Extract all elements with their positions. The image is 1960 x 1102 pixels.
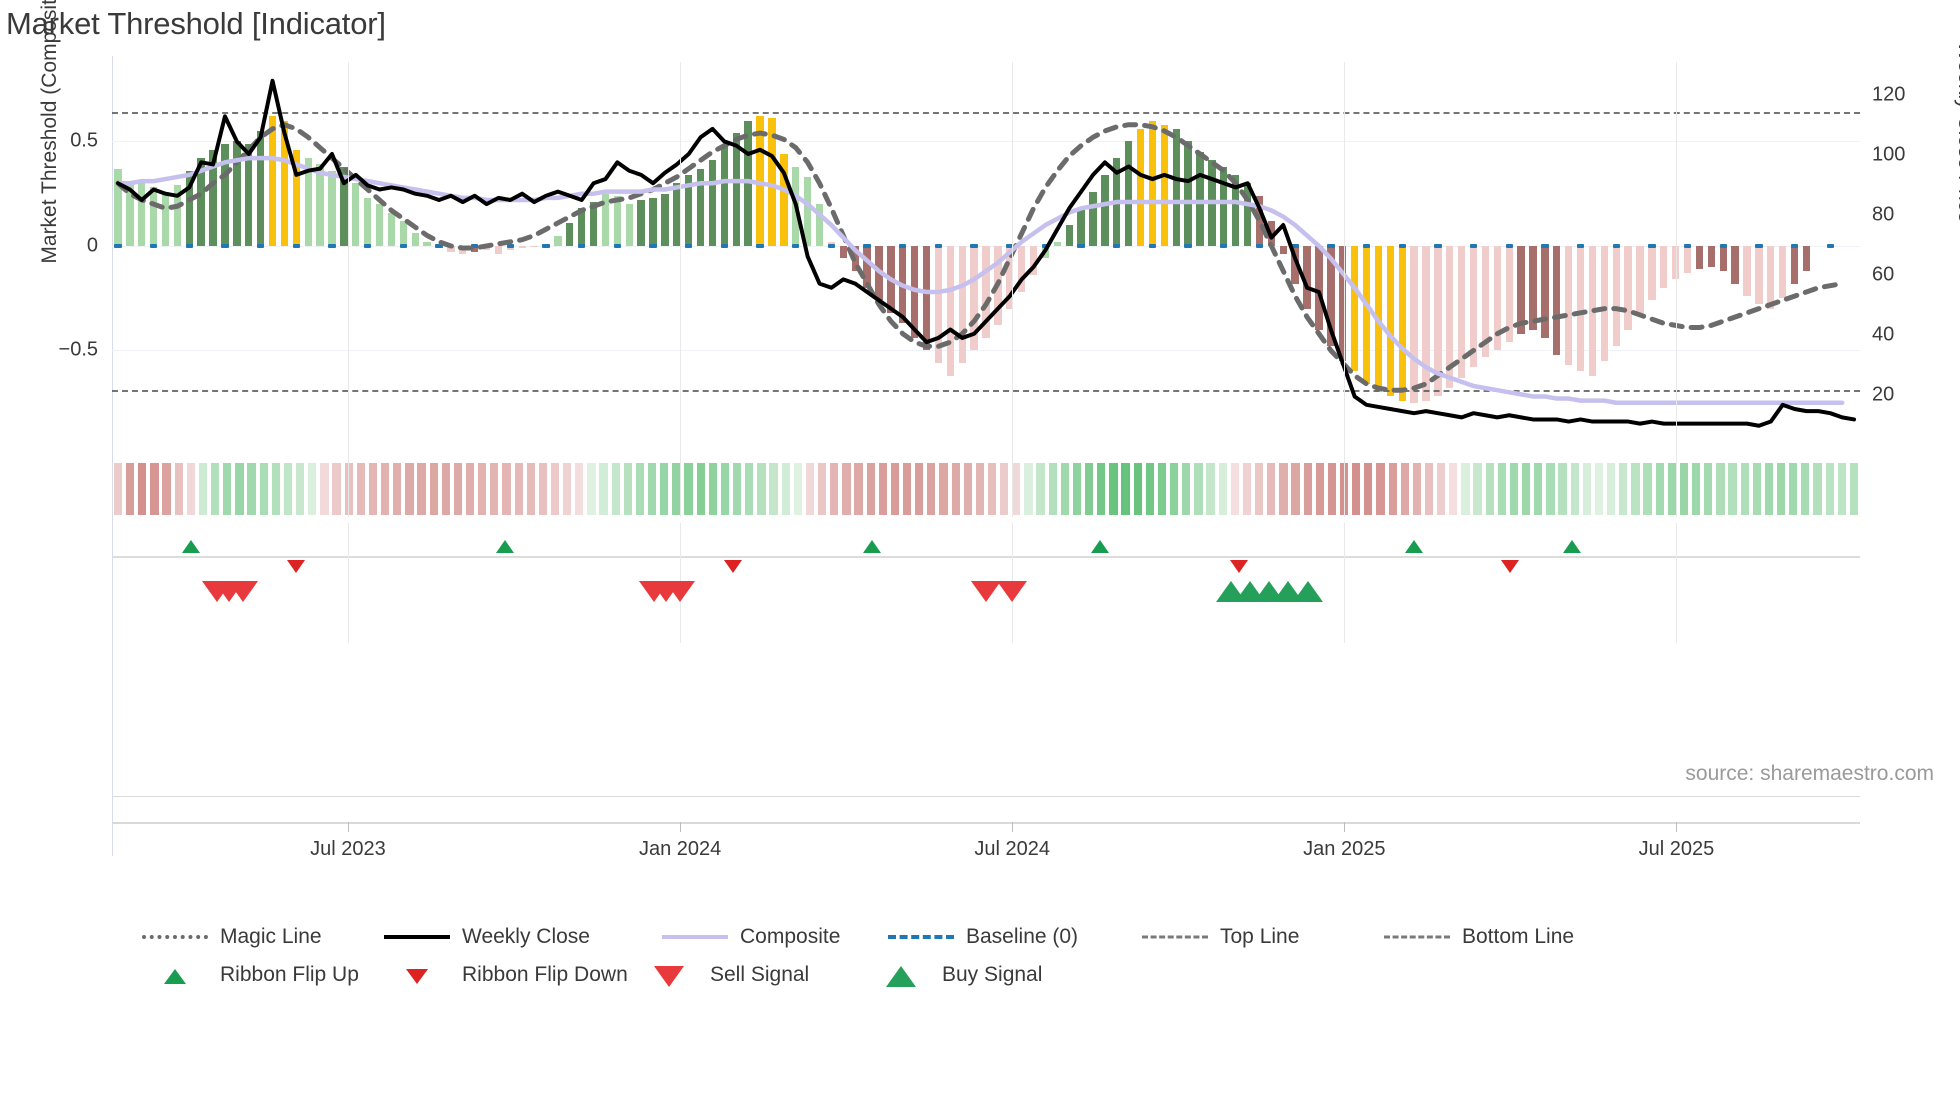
line-key (142, 927, 208, 947)
legend-row-signals: Ribbon Flip UpRibbon Flip DownSell Signa… (112, 956, 1902, 994)
ribbon-cell (1838, 463, 1846, 515)
legend-item[interactable]: Ribbon Flip Down (384, 956, 628, 994)
ribbon-cell (1036, 463, 1044, 515)
x-gridline (1676, 62, 1677, 517)
ribbon-cell (199, 463, 207, 515)
line-key (1384, 927, 1450, 947)
ribbon-cell (478, 463, 486, 515)
ribbon-cell (369, 463, 377, 515)
ribbon-cell (879, 463, 887, 515)
ribbon-cell (1304, 463, 1312, 515)
ribbon-cell (515, 463, 523, 515)
ribbon-cell (830, 463, 838, 515)
ribbon-cell (1510, 463, 1518, 515)
up-triangle-icon (142, 965, 208, 985)
y-tick-left: 0 (87, 234, 98, 257)
ribbon-cell (915, 463, 923, 515)
ribbon-cell (1158, 463, 1166, 515)
signal-gridline (1344, 523, 1345, 643)
ribbon-cell (126, 463, 134, 515)
ribbon-cell (952, 463, 960, 515)
page-title: Market Threshold [Indicator] (6, 6, 386, 42)
ribbon-cell (854, 463, 862, 515)
main-plot-area (112, 62, 1860, 455)
legend-item[interactable]: Magic Line (142, 918, 322, 956)
ribbon-cell (235, 463, 243, 515)
x-gridline (348, 62, 349, 517)
ribbon-cell (272, 463, 280, 515)
ribbon-cell (1279, 463, 1287, 515)
signal-gridline (1676, 523, 1677, 643)
y-tick-left: −0.5 (59, 339, 98, 362)
legend-item[interactable]: Top Line (1142, 918, 1299, 956)
legend-item-label: Top Line (1220, 925, 1299, 949)
ribbon-flip-up-marker (1405, 540, 1423, 553)
ribbon-cell (757, 463, 765, 515)
ribbon-cell (114, 463, 122, 515)
ribbon-cell (138, 463, 146, 515)
buy-signal-marker (1293, 581, 1323, 602)
x-tick-label: Jul 2025 (1639, 838, 1715, 861)
signal-axis-rule (112, 556, 1860, 558)
ribbon-cell (648, 463, 656, 515)
y-axis-right-ticks: 12010080604020 (1860, 62, 1950, 455)
sell-signal-marker (665, 581, 695, 602)
legend-item-label: Weekly Close (462, 925, 590, 949)
signal-gridline (348, 523, 349, 643)
ribbon-cell (1692, 463, 1700, 515)
ribbon-cell (332, 463, 340, 515)
ribbon-cell (1522, 463, 1530, 515)
ribbon-cell (903, 463, 911, 515)
line-swatch-icon (1142, 936, 1208, 939)
up-triangle-icon (864, 965, 930, 985)
down-triangle-glyph (406, 969, 428, 984)
ribbon-cell (430, 463, 438, 515)
line-swatch-icon (384, 935, 450, 939)
chart-root: Market Threshold [Indicator] Market Thre… (0, 0, 1960, 1102)
ribbon-cell (1607, 463, 1615, 515)
ribbon-cell (1486, 463, 1494, 515)
ribbon-cell (1109, 463, 1117, 515)
ribbon-cell (1267, 463, 1275, 515)
ribbon-cell (1583, 463, 1591, 515)
x-gridline (680, 62, 681, 517)
ribbon-cell (1000, 463, 1008, 515)
ribbon-cell (988, 463, 996, 515)
legend-item[interactable]: Baseline (0) (888, 918, 1078, 956)
ribbon-flip-down-marker (724, 560, 742, 573)
x-axis-rule (112, 822, 1860, 824)
legend: Magic LineWeekly CloseCompositeBaseline … (112, 918, 1902, 994)
x-tick-label: Jul 2024 (974, 838, 1050, 861)
legend-item[interactable]: Composite (662, 918, 840, 956)
ribbon-cell (976, 463, 984, 515)
line-swatch-icon (662, 935, 728, 939)
y-tick-left: 0.5 (70, 130, 98, 153)
ribbon-cell (284, 463, 292, 515)
ribbon-cell (927, 463, 935, 515)
bottom-rule (112, 796, 1860, 797)
ribbon-cell (1498, 463, 1506, 515)
x-tick-mark (1344, 822, 1345, 832)
ribbon-cell (1619, 463, 1627, 515)
ribbon-cell (782, 463, 790, 515)
ribbon-cell (1376, 463, 1384, 515)
ribbon-cell (1231, 463, 1239, 515)
ribbon-cell (1595, 463, 1603, 515)
line-key (1142, 927, 1208, 947)
ribbon-cell (1643, 463, 1651, 515)
ribbon-cell (1449, 463, 1457, 515)
magic-line (118, 125, 1842, 390)
ribbon-cell (1291, 463, 1299, 515)
ribbon-cell (454, 463, 462, 515)
ribbon-cell (320, 463, 328, 515)
ribbon-cell (624, 463, 632, 515)
legend-item-label: Buy Signal (942, 963, 1042, 987)
ribbon-cell (636, 463, 644, 515)
ribbon-flip-down-marker (1501, 560, 1519, 573)
legend-item-label: Sell Signal (710, 963, 809, 987)
ribbon-cell (162, 463, 170, 515)
ribbon-cell (1716, 463, 1724, 515)
ribbon-cell (1741, 463, 1749, 515)
ribbon-cell (187, 463, 195, 515)
ribbon-cell (1146, 463, 1154, 515)
y-tick-right: 60 (1872, 264, 1894, 287)
legend-item[interactable]: Ribbon Flip Up (142, 956, 359, 994)
ribbon-cell (1850, 463, 1858, 515)
ribbon-cell (393, 463, 401, 515)
ribbon-cell (1753, 463, 1761, 515)
ribbon-cell (1789, 463, 1797, 515)
ribbon-cell (223, 463, 231, 515)
ribbon-cell (442, 463, 450, 515)
x-tick-label: Jan 2024 (639, 838, 721, 861)
ribbon-cell (1121, 463, 1129, 515)
ribbon-cell (1631, 463, 1639, 515)
ribbon-cell (721, 463, 729, 515)
ribbon-cell (1243, 463, 1251, 515)
ribbon-cell (1170, 463, 1178, 515)
ribbon-cell (417, 463, 425, 515)
ribbon-cell (1668, 463, 1676, 515)
ribbon-cell (1255, 463, 1263, 515)
down-triangle-icon (384, 965, 450, 985)
down-triangle-icon (632, 965, 698, 985)
x-tick-mark (680, 822, 681, 832)
ribbon-cell (1437, 463, 1445, 515)
ribbon-cell (709, 463, 717, 515)
ribbon-cell (1704, 463, 1712, 515)
ribbon-cell (697, 463, 705, 515)
legend-item-label: Baseline (0) (966, 925, 1078, 949)
ribbon-cell (1316, 463, 1324, 515)
ribbon-cell (247, 463, 255, 515)
ribbon-cell (563, 463, 571, 515)
ribbon-cell (733, 463, 741, 515)
ribbon-cell (599, 463, 607, 515)
ribbon-cell (1085, 463, 1093, 515)
ribbon-cell (1401, 463, 1409, 515)
up-triangle-glyph (164, 969, 186, 984)
ribbon-cell (1801, 463, 1809, 515)
line-key (384, 927, 450, 947)
y-tick-right: 80 (1872, 204, 1894, 227)
ribbon-cell (660, 463, 668, 515)
x-tick-mark (1676, 822, 1677, 832)
legend-item-label: Bottom Line (1462, 925, 1574, 949)
ribbon-cell (1473, 463, 1481, 515)
ribbon-cell (1813, 463, 1821, 515)
x-tick-mark (1012, 822, 1013, 832)
ribbon-cell (964, 463, 972, 515)
ribbon-cell (357, 463, 365, 515)
ribbon-cell (1024, 463, 1032, 515)
line-swatch-icon (142, 935, 208, 939)
ribbon-cell (466, 463, 474, 515)
ribbon-cell (1425, 463, 1433, 515)
line-key (888, 927, 954, 947)
ribbon-cell (260, 463, 268, 515)
ribbon-cell (1546, 463, 1554, 515)
ribbon-cell (1134, 463, 1142, 515)
ribbon-cell (296, 463, 304, 515)
ribbon-cell (1728, 463, 1736, 515)
ribbon-cell (1558, 463, 1566, 515)
ribbon-flip-up-marker (1563, 540, 1581, 553)
line-key (662, 927, 728, 947)
line-swatch-icon (888, 935, 954, 939)
ribbon-cell (1194, 463, 1202, 515)
line-overlays (112, 62, 1860, 455)
ribbon-cell (527, 463, 535, 515)
ribbon-cell (1206, 463, 1214, 515)
ribbon-flip-up-marker (1091, 540, 1109, 553)
ribbon-cell (539, 463, 547, 515)
source-note: source: sharemaestro.com (1685, 762, 1934, 786)
ribbon-cell (1777, 463, 1785, 515)
ribbon-cell (502, 463, 510, 515)
ribbon-cell (1826, 463, 1834, 515)
down-triangle-glyph (654, 966, 684, 987)
ribbon-cell (490, 463, 498, 515)
ribbon-cell (794, 463, 802, 515)
signal-markers-panel (112, 523, 1860, 653)
legend-item[interactable]: Weekly Close (384, 918, 590, 956)
legend-item[interactable]: Sell Signal (632, 956, 809, 994)
ribbon-flip-up-marker (182, 540, 200, 553)
ribbon-cell (150, 463, 158, 515)
y-tick-right: 120 (1872, 84, 1905, 107)
ribbon-heatmap-strip (112, 463, 1860, 515)
ribbon-cell (1328, 463, 1336, 515)
line-swatch-icon (1384, 936, 1450, 939)
x-tick-label: Jul 2023 (310, 838, 386, 861)
ribbon-cell (1352, 463, 1360, 515)
y-tick-right: 20 (1872, 384, 1894, 407)
ribbon-cell (1097, 463, 1105, 515)
ribbon-cell (1680, 463, 1688, 515)
ribbon-flip-up-marker (863, 540, 881, 553)
legend-item-label: Magic Line (220, 925, 322, 949)
up-triangle-glyph (886, 966, 916, 987)
ribbon-cell (745, 463, 753, 515)
y-tick-right: 100 (1872, 144, 1905, 167)
ribbon-flip-up-marker (496, 540, 514, 553)
ribbon-cell (769, 463, 777, 515)
ribbon-cell (1219, 463, 1227, 515)
sell-signal-marker (997, 581, 1027, 602)
legend-item-label: Ribbon Flip Down (462, 963, 628, 987)
legend-item[interactable]: Buy Signal (864, 956, 1042, 994)
ribbon-cell (684, 463, 692, 515)
ribbon-cell (1656, 463, 1664, 515)
ribbon-cell (381, 463, 389, 515)
y-axis-left-ticks: 0.50−0.5 (0, 62, 112, 455)
ribbon-flip-down-marker (287, 560, 305, 573)
ribbon-cell (575, 463, 583, 515)
ribbon-cell (1061, 463, 1069, 515)
ribbon-cell (211, 463, 219, 515)
ribbon-cell (1765, 463, 1773, 515)
ribbon-cell (1571, 463, 1579, 515)
ribbon-cell (551, 463, 559, 515)
x-gridline (1344, 62, 1345, 517)
ribbon-cell (842, 463, 850, 515)
ribbon-cell (1182, 463, 1190, 515)
ribbon-cell (1461, 463, 1469, 515)
ribbon-cell (806, 463, 814, 515)
legend-item[interactable]: Bottom Line (1384, 918, 1574, 956)
weekly-close-line (118, 81, 1854, 426)
ribbon-cell (587, 463, 595, 515)
legend-item-label: Ribbon Flip Up (220, 963, 359, 987)
sell-signal-marker (228, 581, 258, 602)
ribbon-cell (818, 463, 826, 515)
ribbon-cell (939, 463, 947, 515)
ribbon-cell (308, 463, 316, 515)
ribbon-cell (1049, 463, 1057, 515)
ribbon-cell (1364, 463, 1372, 515)
ribbon-cell (1073, 463, 1081, 515)
legend-item-label: Composite (740, 925, 840, 949)
x-gridline (1012, 62, 1013, 517)
y-tick-right: 40 (1872, 324, 1894, 347)
ribbon-cell (1534, 463, 1542, 515)
ribbon-cell (867, 463, 875, 515)
ribbon-cell (1012, 463, 1020, 515)
y-axis-right-title: Weekly Close Price (1953, 0, 1960, 342)
ribbon-cell (1413, 463, 1421, 515)
x-tick-label: Jan 2025 (1303, 838, 1385, 861)
ribbon-cell (405, 463, 413, 515)
ribbon-cell (612, 463, 620, 515)
ribbon-cell (891, 463, 899, 515)
ribbon-flip-down-marker (1230, 560, 1248, 573)
ribbon-cell (175, 463, 183, 515)
ribbon-cell (1389, 463, 1397, 515)
x-tick-mark (348, 822, 349, 832)
legend-row-primary: Magic LineWeekly CloseCompositeBaseline … (112, 918, 1902, 956)
